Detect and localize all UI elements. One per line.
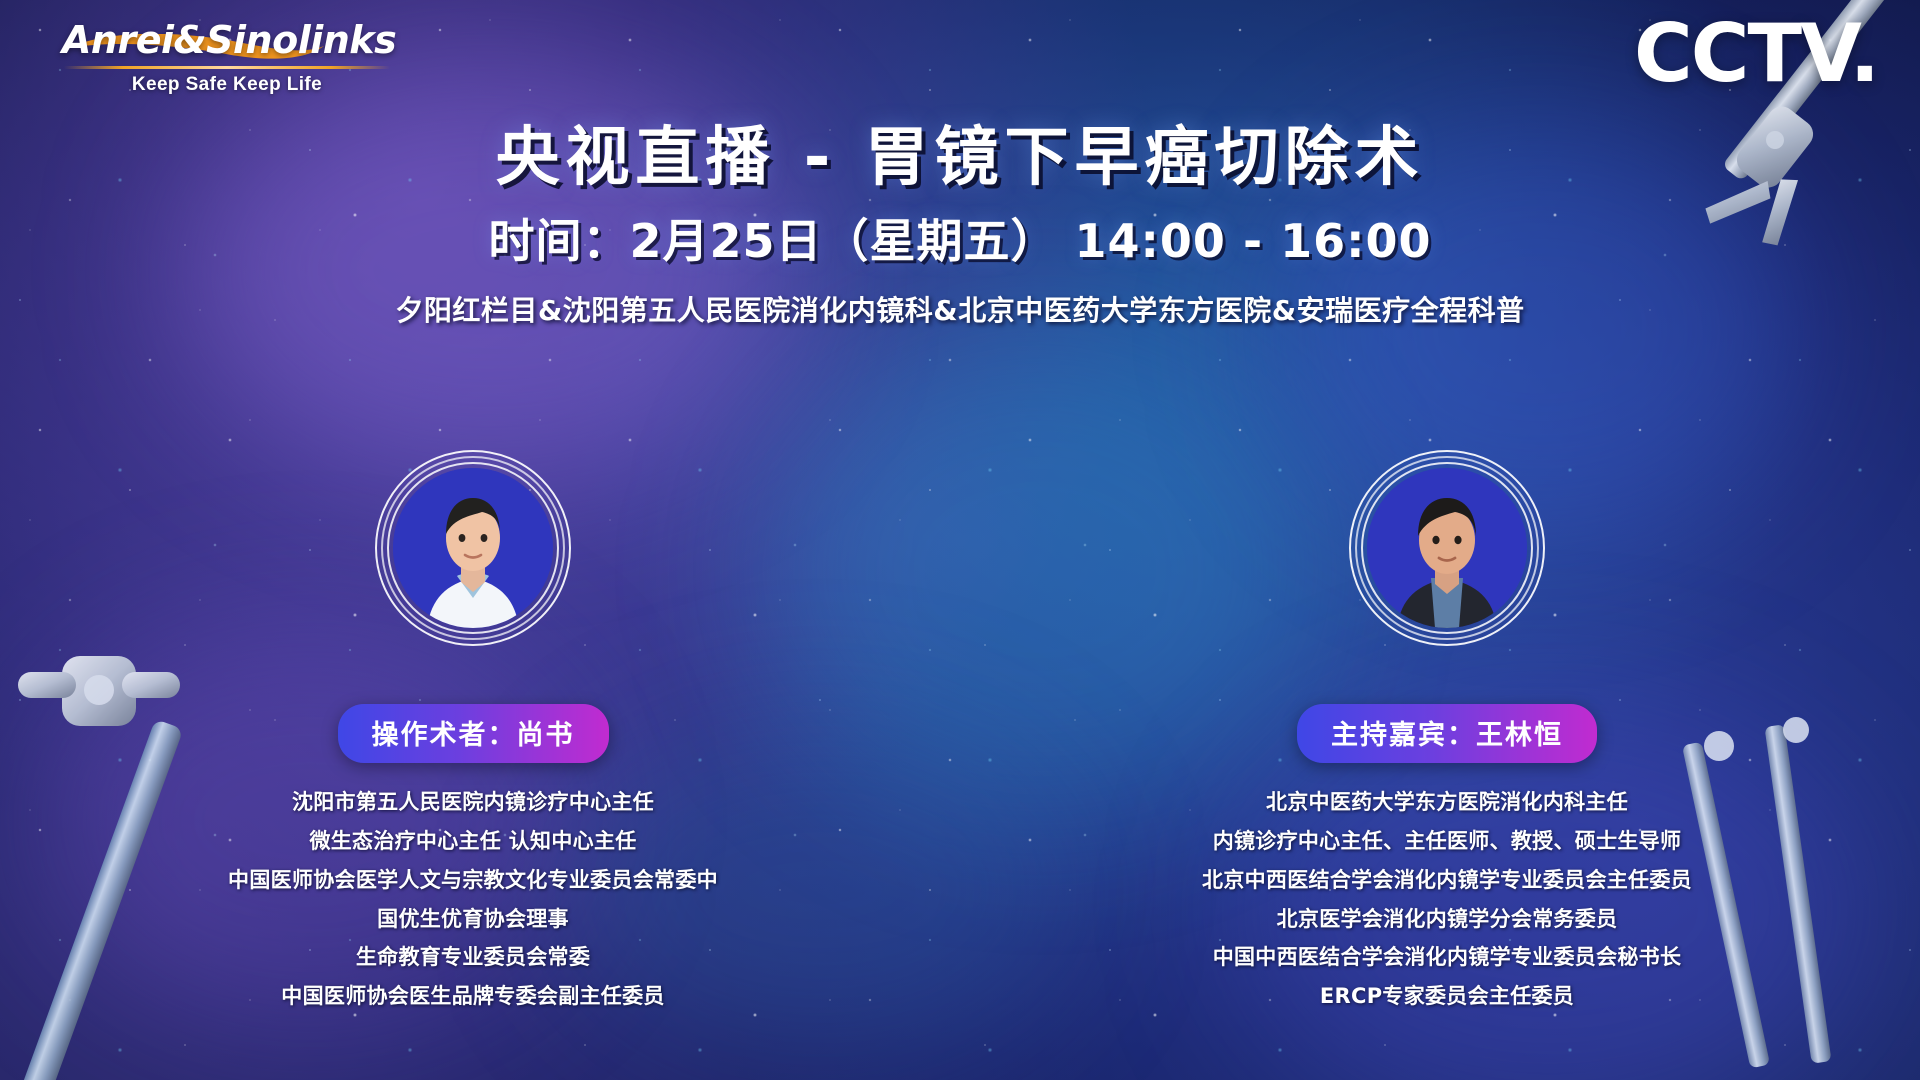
avatar <box>1349 450 1545 646</box>
credential-line: 沈阳市第五人民医院内镜诊疗中心主任 <box>228 783 718 822</box>
credential-line: 中国中西医结合学会消化内镜学专业委员会秘书长 <box>1202 938 1692 977</box>
brand-divider <box>64 66 390 69</box>
poster-canvas: Anrei&Sinolinks Keep Safe Keep Life CCTV… <box>0 0 1920 1080</box>
page-title: 央视直播 - 胃镜下早癌切除术 <box>0 124 1920 193</box>
cctv-logo: CCTV. <box>1634 14 1878 94</box>
brand-tagline: Keep Safe Keep Life <box>62 74 392 96</box>
credential-line: 内镜诊疗中心主任、主任医师、教授、硕士生导师 <box>1202 822 1692 861</box>
speaker-name-badge: 主持嘉宾：王林恒 <box>1297 704 1597 763</box>
credential-line: ERCP专家委员会主任委员 <box>1202 977 1692 1016</box>
event-time: 时间：2月25日（星期五） 14:00 - 16:00 <box>0 216 1920 267</box>
credential-line: 微生态治疗中心主任 认知中心主任 <box>228 822 718 861</box>
doctor-portrait-icon <box>393 468 553 628</box>
speaker-credentials: 沈阳市第五人民医院内镜诊疗中心主任 微生态治疗中心主任 认知中心主任 中国医师协… <box>228 783 718 1016</box>
credential-line: 中国医师协会医学人文与宗教文化专业委员会常委中 <box>228 861 718 900</box>
credential-line: 国优生优育协会理事 <box>228 900 718 939</box>
credential-line: 北京中医药大学东方医院消化内科主任 <box>1202 783 1692 822</box>
speakers-row: 操作术者：尚书 沈阳市第五人民医院内镜诊疗中心主任 微生态治疗中心主任 认知中心… <box>0 450 1920 1016</box>
speaker-credentials: 北京中医药大学东方医院消化内科主任 内镜诊疗中心主任、主任医师、教授、硕士生导师… <box>1202 783 1692 1016</box>
brand-name: Anrei&Sinolinks <box>62 18 392 62</box>
credential-line: 生命教育专业委员会常委 <box>228 938 718 977</box>
credential-line: 北京医学会消化内镜学分会常务委员 <box>1202 900 1692 939</box>
speaker-card-operator: 操作术者：尚书 沈阳市第五人民医院内镜诊疗中心主任 微生态治疗中心主任 认知中心… <box>163 450 783 1016</box>
brand-logo: Anrei&Sinolinks Keep Safe Keep Life <box>62 18 392 96</box>
speaker-card-host: 主持嘉宾：王林恒 北京中医药大学东方医院消化内科主任 内镜诊疗中心主任、主任医师… <box>1137 450 1757 1016</box>
credential-line: 北京中西医结合学会消化内镜学专业委员会主任委员 <box>1202 861 1692 900</box>
host-portrait-icon <box>1367 468 1527 628</box>
speaker-name-badge: 操作术者：尚书 <box>338 704 609 763</box>
organizers-line: 夕阳红栏目&沈阳第五人民医院消化内镜科&北京中医药大学东方医院&安瑞医疗全程科普 <box>0 294 1920 328</box>
credential-line: 中国医师协会医生品牌专委会副主任委员 <box>228 977 718 1016</box>
avatar <box>375 450 571 646</box>
